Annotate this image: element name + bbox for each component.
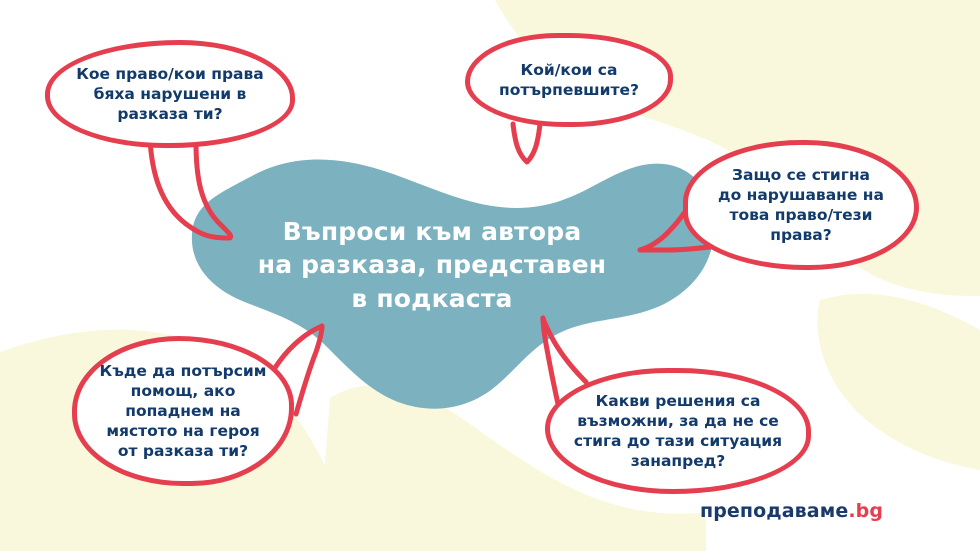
center-title-line-2: на разказа, представен	[236, 248, 628, 281]
speech-bubble-solutions-text: Какви решения са възможни, за да не се с…	[564, 391, 792, 472]
speech-bubble-why[interactable]: Защо се стигна до нарушаване на това пра…	[683, 140, 919, 270]
speech-bubble-help-text: Къде да потърсим помощ, ако попаднем на …	[91, 361, 275, 462]
speech-bubble-help[interactable]: Къде да потърсим помощ, ако попаднем на …	[72, 336, 294, 486]
speech-bubble-why-text: Защо се стигна до нарушаване на това пра…	[702, 165, 900, 246]
logo-name: преподаваме	[700, 500, 848, 522]
logo-tld: .bg	[848, 500, 883, 522]
speech-bubble-victims-text: Кой/кои са потърпевшите?	[484, 60, 654, 100]
center-title-line-3: в подкаста	[236, 282, 628, 315]
speech-bubble-solutions[interactable]: Какви решения са възможни, за да не се с…	[545, 368, 811, 494]
speech-bubble-rights[interactable]: Кое право/кои права бяха нарушени в разк…	[45, 40, 295, 148]
center-title: Въпроси към автора на разказа, представе…	[236, 215, 628, 315]
center-title-line-1: Въпроси към автора	[236, 215, 628, 248]
speech-bubble-rights-text: Кое право/кои права бяха нарушени в разк…	[64, 64, 276, 124]
speech-bubble-victims[interactable]: Кой/кои са потърпевшите?	[465, 33, 673, 127]
infographic-canvas: Кое право/кои права бяха нарушени в разк…	[0, 0, 980, 551]
bubble-tail-victims	[513, 124, 540, 162]
bubble-tail-rights-inner	[196, 142, 231, 238]
site-logo[interactable]: преподаваме.bg	[700, 500, 883, 522]
